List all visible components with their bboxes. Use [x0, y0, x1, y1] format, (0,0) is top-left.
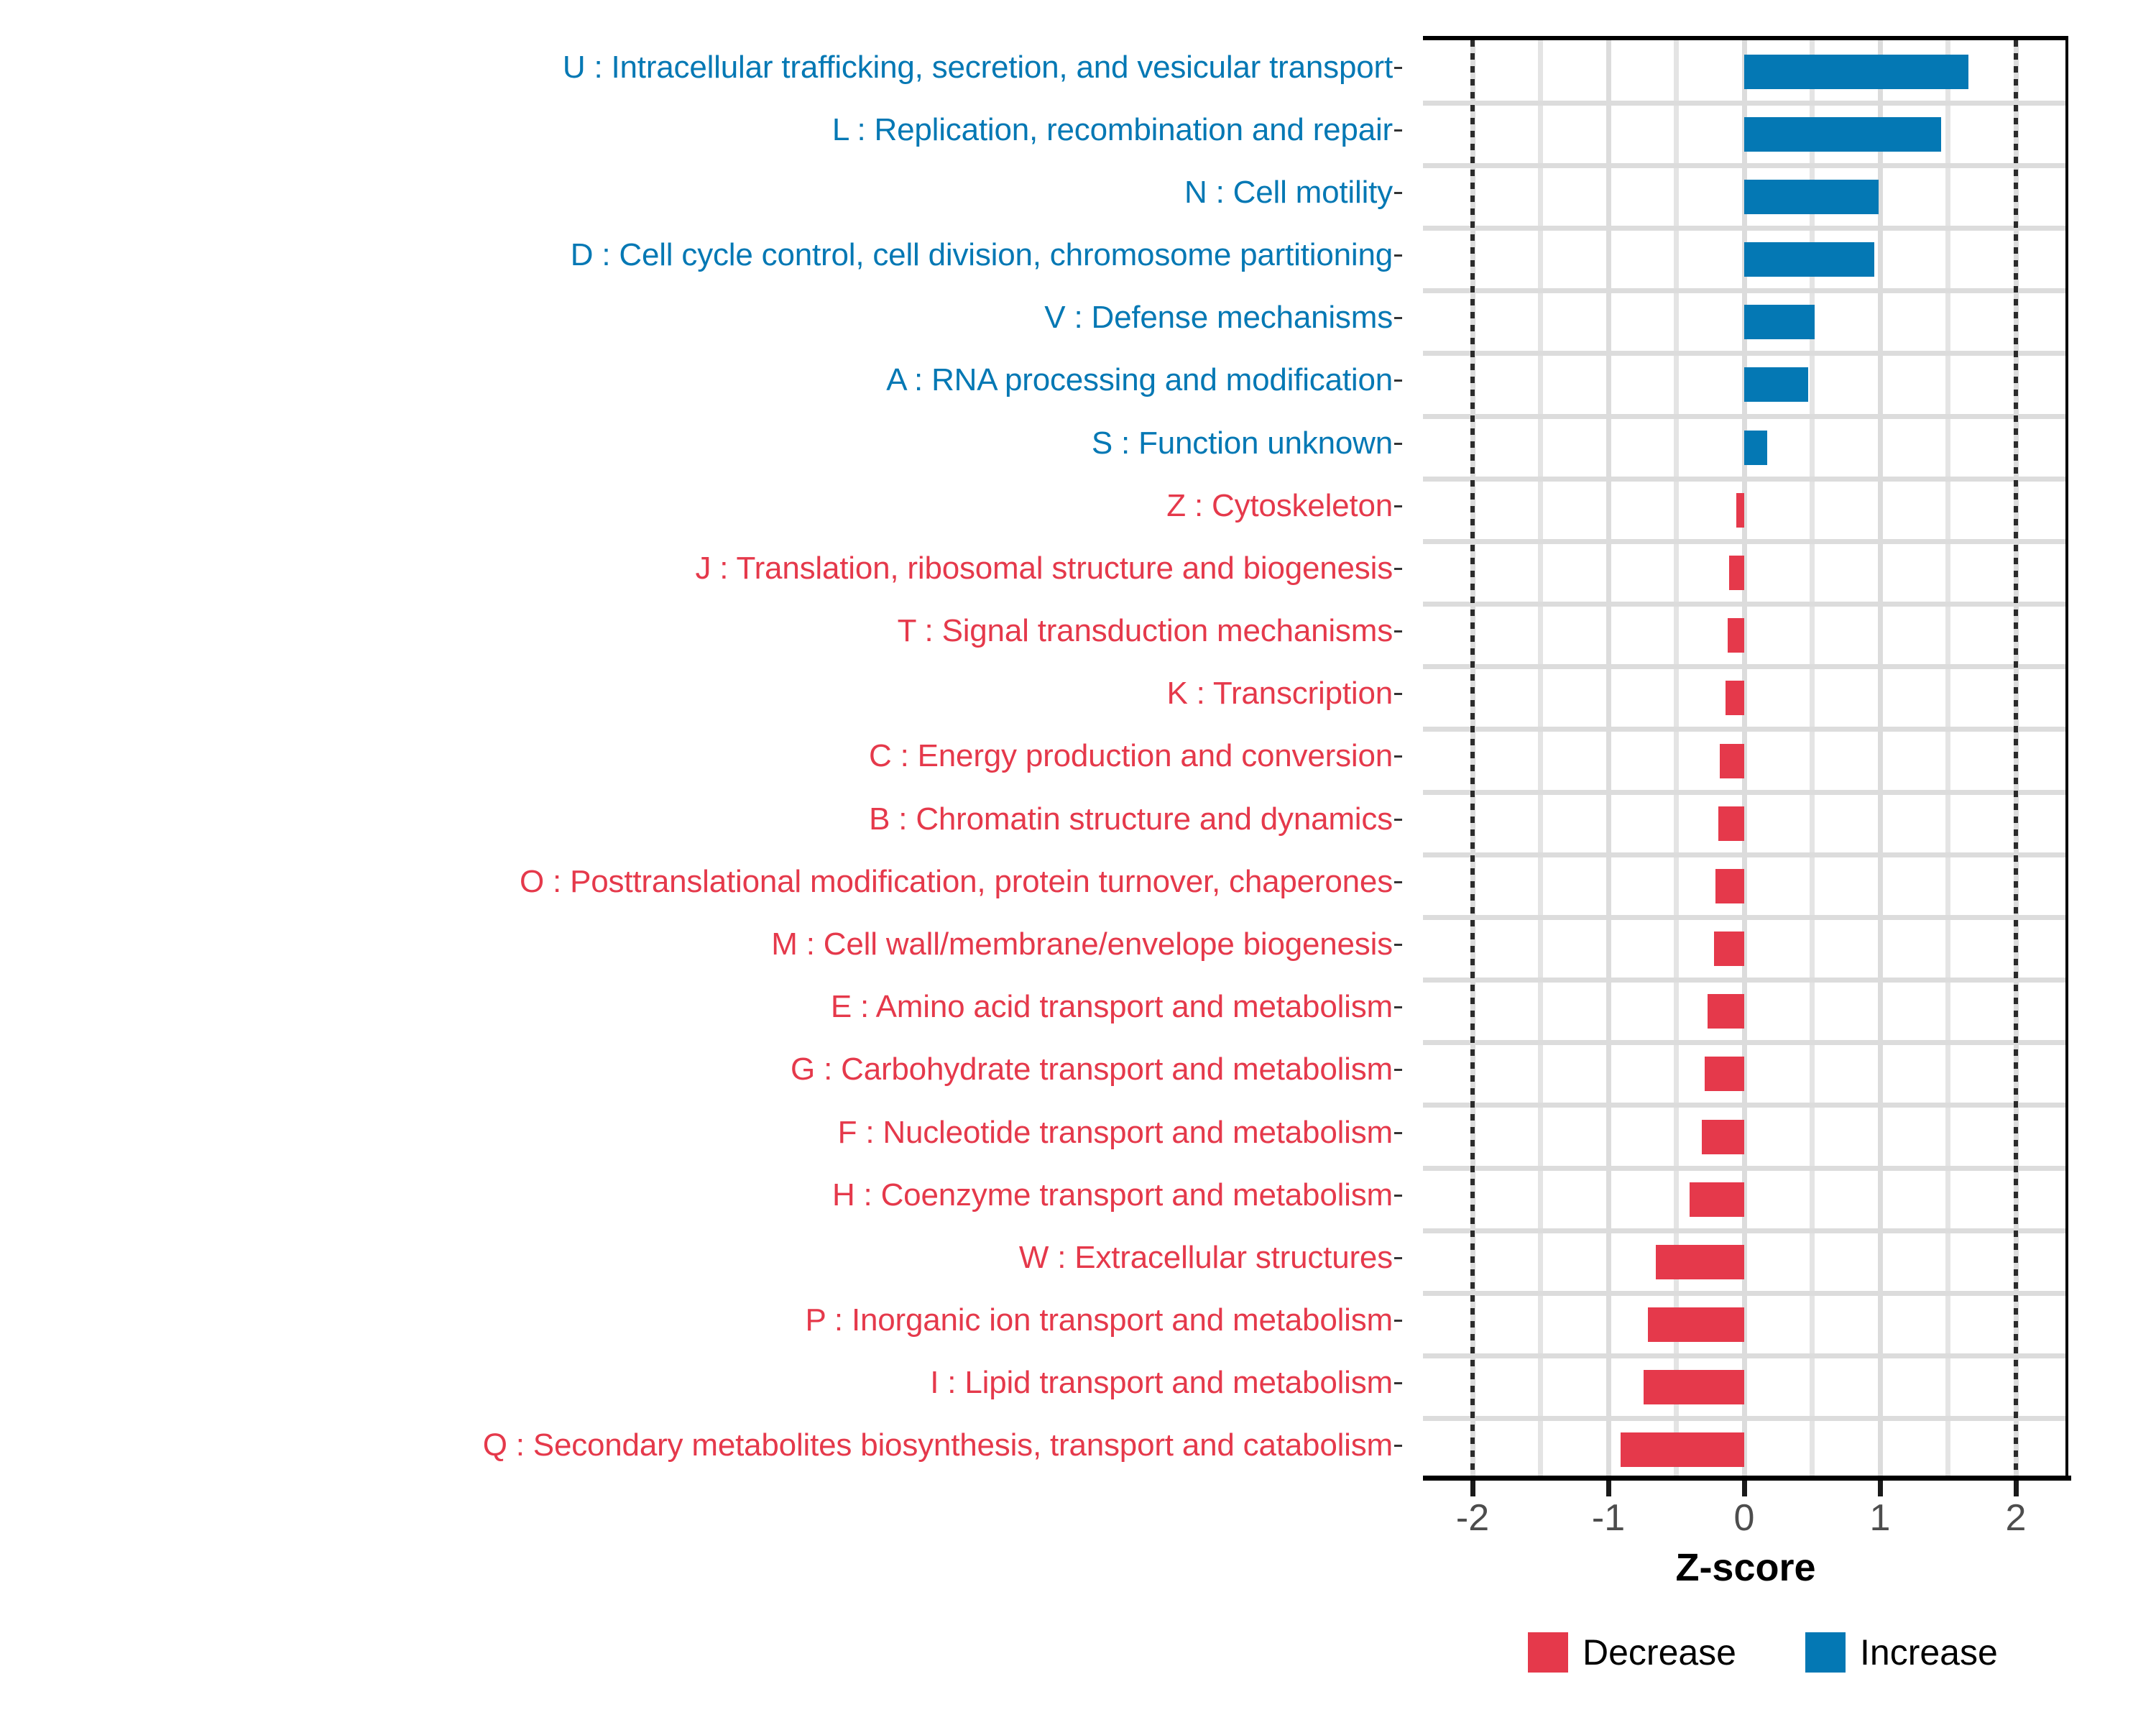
- bar: [1729, 556, 1744, 590]
- category-label: Q : Secondary metabolites biosynthesis, …: [483, 1430, 1393, 1461]
- reference-line: [2014, 40, 2018, 1477]
- category-axis-tick: [1394, 1069, 1402, 1071]
- vertical-gridline: [1945, 40, 1950, 1477]
- category-label-row: K : Transcription: [0, 663, 1401, 725]
- category-label: E : Amino acid transport and metabolism: [831, 991, 1393, 1023]
- horizontal-gridline: [1423, 790, 2065, 795]
- bar: [1714, 931, 1744, 966]
- category-label: L : Replication, recombination and repai…: [832, 114, 1393, 146]
- category-label: J : Translation, ribosomal structure and…: [695, 553, 1393, 584]
- category-label: W : Extracellular structures: [1019, 1242, 1393, 1274]
- category-label: N : Cell motility: [1184, 177, 1393, 208]
- horizontal-gridline: [1423, 602, 2065, 607]
- bar: [1644, 1370, 1744, 1404]
- bar: [1744, 180, 1879, 214]
- x-axis-tick: [1878, 1481, 1883, 1496]
- horizontal-gridline: [1423, 414, 2065, 419]
- x-axis-title: Z-score: [1423, 1545, 2068, 1590]
- horizontal-gridline: [1423, 852, 2065, 857]
- x-axis-tick-label: -2: [1422, 1496, 1523, 1540]
- category-label-row: M : Cell wall/membrane/envelope biogenes…: [0, 913, 1401, 975]
- bar: [1705, 1057, 1744, 1091]
- horizontal-gridline: [1423, 101, 2065, 106]
- category-axis-tick: [1394, 1445, 1402, 1447]
- x-axis-tick: [1742, 1481, 1747, 1496]
- category-label-row: Z : Cytoskeleton: [0, 474, 1401, 537]
- horizontal-gridline: [1423, 1103, 2065, 1108]
- legend-label: Decrease: [1583, 1632, 1736, 1673]
- bar: [1621, 1432, 1744, 1467]
- category-label: K : Transcription: [1166, 678, 1393, 709]
- x-axis-tick: [2014, 1481, 2019, 1496]
- chart-root: U : Intracellular trafficking, secretion…: [0, 0, 2156, 1725]
- category-label-row: O : Posttranslational modification, prot…: [0, 850, 1401, 913]
- bar: [1744, 242, 1874, 277]
- category-axis-tick: [1394, 443, 1402, 445]
- bar: [1744, 55, 1968, 89]
- category-label: H : Coenzyme transport and metabolism: [832, 1179, 1393, 1211]
- category-axis-tick: [1394, 693, 1402, 695]
- category-label: A : RNA processing and modification: [886, 364, 1393, 396]
- bar: [1702, 1120, 1744, 1154]
- category-axis-tick: [1394, 1382, 1402, 1384]
- category-axis-tick: [1394, 755, 1402, 758]
- category-label-row: N : Cell motility: [0, 161, 1401, 224]
- horizontal-gridline: [1423, 1040, 2065, 1045]
- vertical-gridline: [1538, 40, 1543, 1477]
- x-axis-tick: [1606, 1481, 1611, 1496]
- horizontal-gridline: [1423, 539, 2065, 544]
- x-axis-tick-label: 2: [1966, 1496, 2066, 1540]
- plot-area: [1423, 40, 2065, 1477]
- category-label-row: I : Lipid transport and metabolism: [0, 1352, 1401, 1414]
- category-label: B : Chromatin structure and dynamics: [869, 804, 1393, 835]
- category-label-row: S : Function unknown: [0, 412, 1401, 474]
- legend-label: Increase: [1860, 1632, 1998, 1673]
- category-axis-tick: [1394, 630, 1402, 632]
- category-label-row: T : Signal transduction mechanisms: [0, 600, 1401, 663]
- category-label-row: V : Defense mechanisms: [0, 287, 1401, 349]
- horizontal-gridline: [1423, 977, 2065, 983]
- category-label-row: U : Intracellular trafficking, secretion…: [0, 36, 1401, 98]
- horizontal-gridline: [1423, 1166, 2065, 1171]
- category-axis-tick: [1394, 944, 1402, 946]
- bar: [1708, 994, 1744, 1029]
- bar: [1736, 493, 1744, 528]
- category-label-row: H : Coenzyme transport and metabolism: [0, 1164, 1401, 1226]
- vertical-gridline: [1606, 40, 1611, 1477]
- vertical-gridline: [1878, 40, 1883, 1477]
- category-label: G : Carbohydrate transport and metabolis…: [791, 1054, 1393, 1085]
- category-axis-tick: [1394, 379, 1402, 382]
- category-label-row: E : Amino acid transport and metabolism: [0, 976, 1401, 1039]
- category-label-row: Q : Secondary metabolites biosynthesis, …: [0, 1414, 1401, 1477]
- bar: [1718, 806, 1744, 841]
- category-axis-tick: [1394, 568, 1402, 570]
- category-label: T : Signal transduction mechanisms: [898, 615, 1393, 647]
- horizontal-gridline: [1423, 727, 2065, 732]
- category-axis-tick: [1394, 1006, 1402, 1008]
- category-axis-tick: [1394, 505, 1402, 507]
- x-axis-tick-label: 0: [1694, 1496, 1795, 1540]
- category-axis-tick: [1394, 192, 1402, 194]
- category-label-row: G : Carbohydrate transport and metabolis…: [0, 1039, 1401, 1101]
- bar: [1715, 869, 1744, 903]
- bar: [1690, 1182, 1744, 1217]
- category-axis-tick: [1394, 129, 1402, 132]
- bar: [1744, 305, 1815, 339]
- category-axis-labels: U : Intracellular trafficking, secretion…: [0, 36, 1401, 1477]
- category-axis-tick: [1394, 1320, 1402, 1322]
- category-axis-tick: [1394, 1195, 1402, 1197]
- bar: [1744, 117, 1941, 152]
- horizontal-gridline: [1423, 1416, 2065, 1421]
- category-label-row: B : Chromatin structure and dynamics: [0, 788, 1401, 850]
- category-label: S : Function unknown: [1092, 428, 1393, 459]
- category-label-row: D : Cell cycle control, cell division, c…: [0, 224, 1401, 287]
- category-axis-tick: [1394, 1257, 1402, 1259]
- bar: [1744, 367, 1808, 402]
- horizontal-gridline: [1423, 1228, 2065, 1233]
- x-axis-tick: [1470, 1481, 1475, 1496]
- legend-swatch-increase: [1805, 1632, 1846, 1673]
- category-axis-tick: [1394, 254, 1402, 257]
- category-label: D : Cell cycle control, cell division, c…: [571, 239, 1393, 271]
- category-label: Z : Cytoskeleton: [1166, 490, 1393, 522]
- category-label: I : Lipid transport and metabolism: [930, 1367, 1393, 1399]
- category-label: F : Nucleotide transport and metabolism: [838, 1117, 1393, 1149]
- bar: [1648, 1307, 1744, 1342]
- chart-legend: DecreaseIncrease: [1423, 1632, 2142, 1673]
- category-label: C : Energy production and conversion: [869, 740, 1393, 772]
- category-label-row: J : Translation, ribosomal structure and…: [0, 537, 1401, 599]
- category-label-row: C : Energy production and conversion: [0, 725, 1401, 788]
- category-label-row: F : Nucleotide transport and metabolism: [0, 1101, 1401, 1164]
- category-label-row: A : RNA processing and modification: [0, 349, 1401, 412]
- x-axis-tick-label: 1: [1830, 1496, 1930, 1540]
- legend-swatch-decrease: [1528, 1632, 1568, 1673]
- category-label-row: W : Extracellular structures: [0, 1226, 1401, 1289]
- category-label: U : Intracellular trafficking, secretion…: [563, 52, 1393, 83]
- category-axis-tick: [1394, 819, 1402, 821]
- bar: [1744, 431, 1767, 465]
- bar: [1720, 744, 1744, 778]
- horizontal-gridline: [1423, 226, 2065, 231]
- legend-item[interactable]: Decrease: [1528, 1632, 1736, 1673]
- horizontal-gridline: [1423, 915, 2065, 920]
- category-axis-tick: [1394, 881, 1402, 883]
- horizontal-gridline: [1423, 351, 2065, 356]
- horizontal-gridline: [1423, 664, 2065, 669]
- horizontal-gridline: [1423, 163, 2065, 168]
- category-label-row: P : Inorganic ion transport and metaboli…: [0, 1289, 1401, 1351]
- category-label: O : Posttranslational modification, prot…: [520, 866, 1393, 898]
- category-label: M : Cell wall/membrane/envelope biogenes…: [771, 929, 1393, 960]
- plot-panel: [1423, 36, 2068, 1477]
- horizontal-gridline: [1423, 1291, 2065, 1296]
- category-label: P : Inorganic ion transport and metaboli…: [806, 1305, 1393, 1336]
- reference-line: [1470, 40, 1475, 1477]
- legend-item[interactable]: Increase: [1805, 1632, 1998, 1673]
- x-axis-tick-label: -1: [1558, 1496, 1659, 1540]
- category-label: V : Defense mechanisms: [1044, 302, 1393, 333]
- category-label-row: L : Replication, recombination and repai…: [0, 98, 1401, 161]
- horizontal-gridline: [1423, 288, 2065, 293]
- category-axis-tick: [1394, 1132, 1402, 1134]
- bar: [1726, 681, 1744, 715]
- x-axis-line: [1423, 1476, 2071, 1481]
- bar: [1656, 1245, 1744, 1279]
- category-axis-tick: [1394, 67, 1402, 69]
- bar: [1728, 618, 1744, 653]
- horizontal-gridline: [1423, 1353, 2065, 1358]
- category-axis-tick: [1394, 317, 1402, 319]
- horizontal-gridline: [1423, 477, 2065, 482]
